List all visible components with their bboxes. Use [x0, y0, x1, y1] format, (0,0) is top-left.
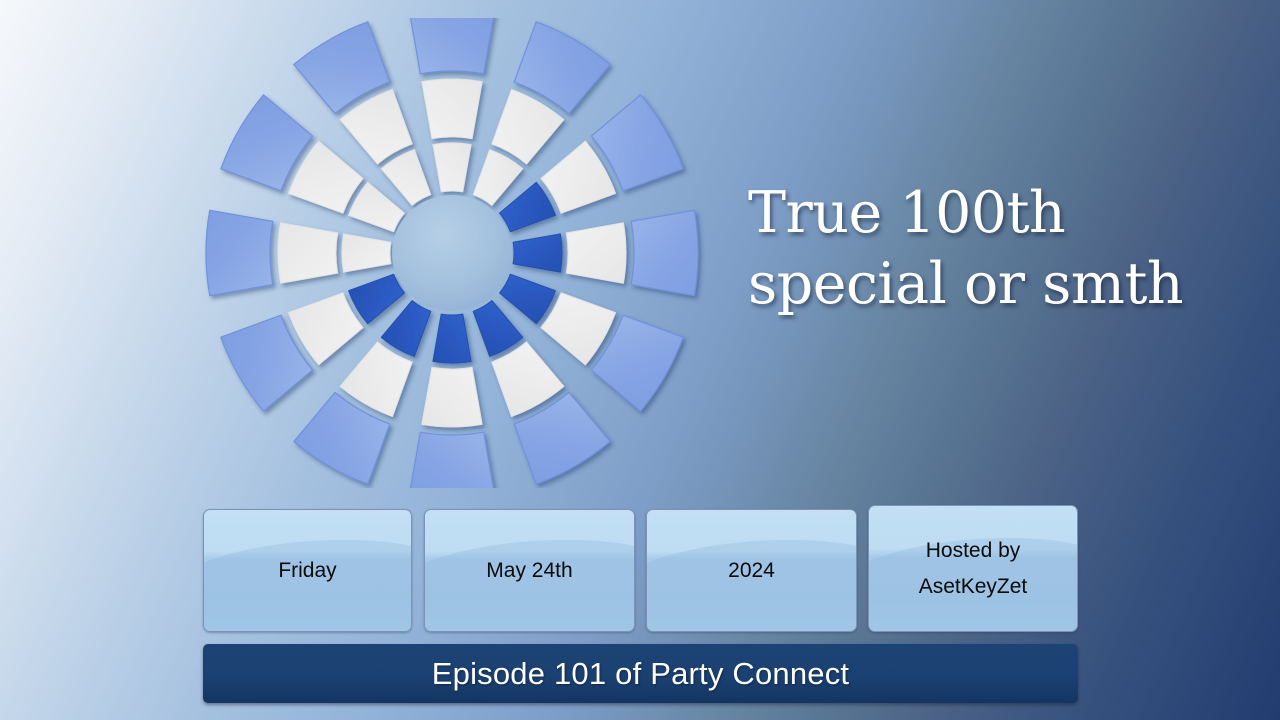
slide-title: True 100th special or smth	[748, 178, 1248, 320]
info-box-day[interactable]: Friday	[203, 509, 412, 632]
radial-rings-graphic	[186, 18, 726, 488]
info-box-date-label: May 24th	[486, 553, 572, 589]
info-box-year-label: 2024	[728, 553, 775, 589]
info-box-date[interactable]: May 24th	[424, 509, 635, 632]
info-box-year[interactable]: 2024	[646, 509, 857, 632]
info-box-row: Friday May 24th 2024 Hosted by AsetKeyZe…	[203, 505, 1078, 633]
info-box-host-label: Hosted by AsetKeyZet	[919, 533, 1028, 605]
episode-banner-label: Episode 101 of Party Connect	[432, 656, 849, 692]
slide-canvas: True 100th special or smth Friday May 24…	[0, 0, 1280, 720]
info-box-day-label: Friday	[278, 553, 336, 589]
graphic-hub	[392, 195, 512, 311]
episode-banner[interactable]: Episode 101 of Party Connect	[203, 644, 1078, 703]
info-box-host[interactable]: Hosted by AsetKeyZet	[868, 505, 1078, 632]
